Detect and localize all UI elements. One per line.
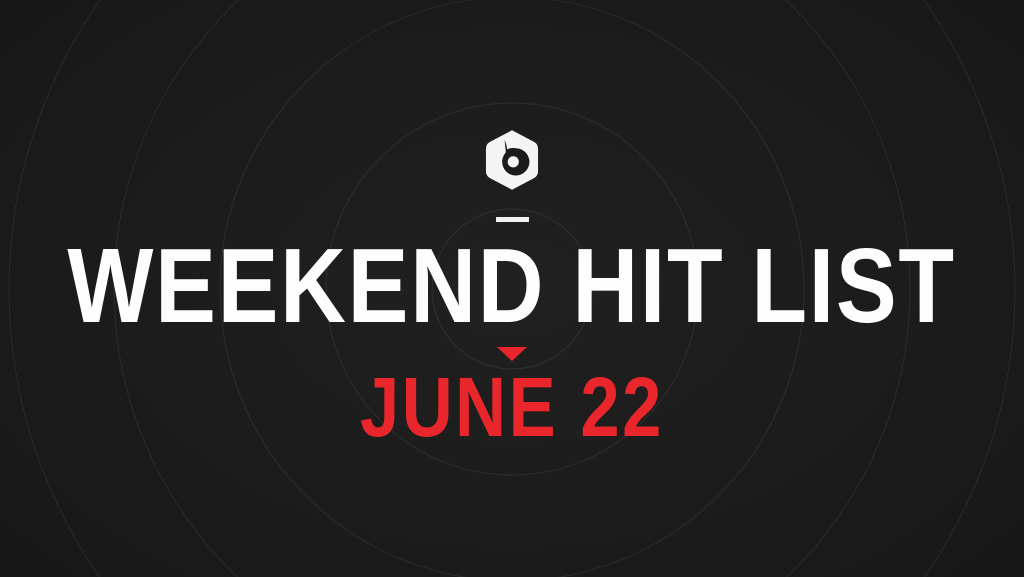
date-label: JUNE 22 [360, 365, 664, 451]
title-divider [496, 217, 529, 222]
beats-b-logo-icon [481, 129, 543, 191]
caret-down-icon [497, 347, 527, 361]
page-title: WEEKEND HIT LIST [68, 238, 956, 336]
content-column: WEEKEND HIT LIST JUNE 22 [0, 0, 1024, 577]
promo-card: WEEKEND HIT LIST JUNE 22 [0, 0, 1024, 577]
